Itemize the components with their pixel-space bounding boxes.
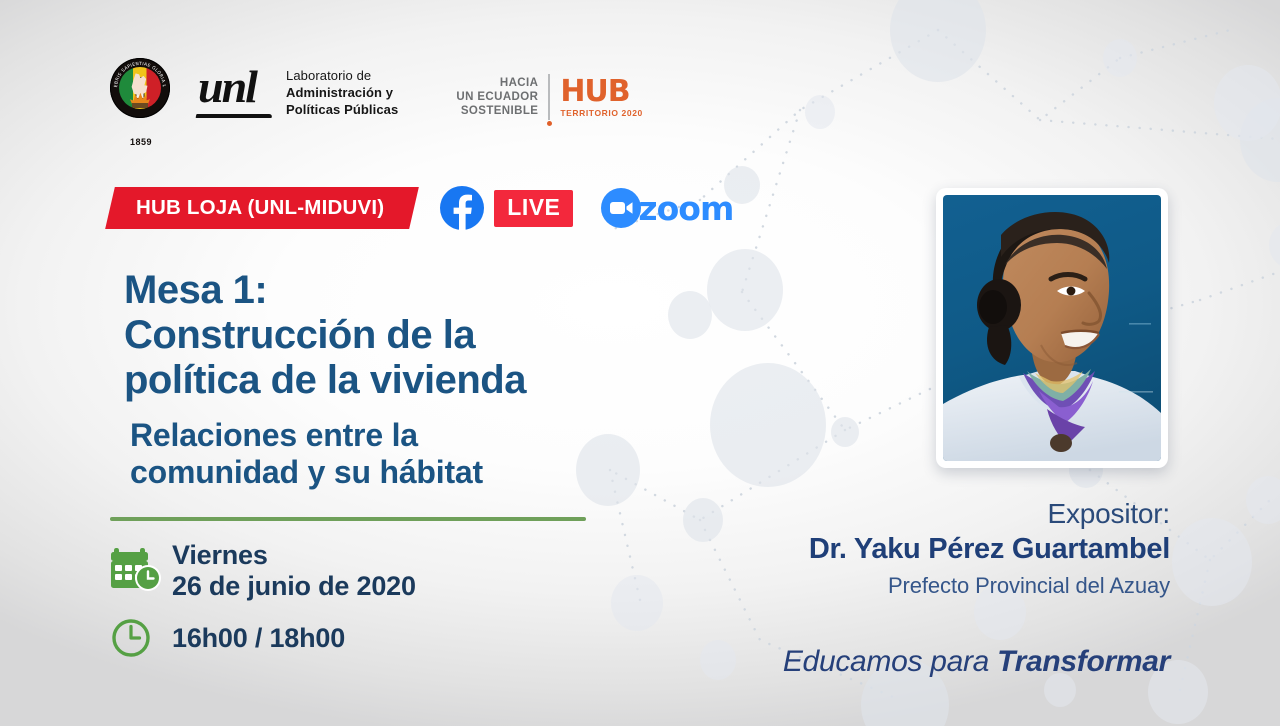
hub-divider: [548, 74, 550, 120]
unl-lab-logo: unl Laboratorio de Administración y Polí…: [198, 58, 398, 120]
unl-underline: [196, 114, 273, 118]
hub-loja-badge-label: HUB LOJA (UNL-MIDUVI): [136, 196, 384, 220]
date-text: Viernes 26 de junio de 2020: [172, 540, 416, 601]
unl-wordmark: unl: [198, 64, 272, 120]
speaker-portrait: [943, 195, 1161, 461]
green-divider: [110, 517, 586, 521]
facebook-icon[interactable]: [440, 186, 484, 230]
subtitle-line-1: Relaciones entre la: [130, 417, 483, 454]
title-line-2: Construcción de la: [124, 313, 526, 358]
tagline: Educamos para Transformar: [783, 645, 1170, 679]
time-text: 16h00 / 18h00: [172, 623, 345, 654]
page-subtitle: Relaciones entre la comunidad y su hábit…: [130, 417, 483, 492]
broadcast-bar: HUB LOJA (UNL-MIDUVI) LIVE zoom: [110, 186, 733, 230]
hub-wordmark: HUB: [560, 77, 643, 107]
title-line-1: Mesa 1:: [124, 268, 526, 313]
tagline-normal: Educamos para: [783, 645, 997, 678]
date-line-2: 26 de junio de 2020: [172, 571, 416, 602]
zoom-logo[interactable]: zoom: [601, 188, 733, 228]
calendar-clock-icon: [110, 545, 172, 597]
speaker-block: Expositor: Dr. Yaku Pérez Guartambel Pre…: [809, 498, 1170, 600]
unl-wordmark-text: unl: [198, 64, 272, 110]
date-line-1: Viernes: [172, 540, 416, 571]
clock-icon: [110, 615, 172, 661]
hub-tagline-line-3: SOSTENIBLE: [456, 104, 538, 118]
speaker-role: Prefecto Provincial del Azuay: [809, 572, 1170, 601]
date-row: Viernes 26 de junio de 2020: [110, 540, 416, 601]
avatar: [936, 188, 1168, 468]
hub-dot-icon: [547, 121, 552, 126]
title-line-3: política de la vivienda: [124, 358, 526, 403]
schedule-block: Viernes 26 de junio de 2020 16h00 / 18h0…: [110, 540, 416, 675]
hub-tagline: HACIA UN ECUADOR SOSTENIBLE: [456, 76, 538, 118]
zoom-wordmark: zoom: [638, 192, 733, 225]
pedestal-icon: [132, 103, 148, 108]
hub-subtitle: TERRITORIO 2020: [560, 109, 643, 118]
speaker-name: Dr. Yaku Pérez Guartambel: [809, 532, 1170, 567]
lab-line-3: Políticas Públicas: [286, 101, 398, 118]
time-row: 16h00 / 18h00: [110, 615, 416, 661]
seal-year: 1859: [110, 137, 172, 147]
lab-line-2: Administración y: [286, 84, 398, 101]
lab-name: Laboratorio de Administración y Política…: [286, 67, 398, 118]
hub-tagline-line-1: HACIA: [456, 76, 538, 90]
live-badge: LIVE: [494, 190, 573, 227]
webinar-poster: .bub{fill:#dfe4ea;opacity:.62} .bub2{fil…: [0, 0, 1280, 726]
subtitle-line-2: comunidad y su hábitat: [130, 454, 483, 491]
lab-line-1: Laboratorio de: [286, 67, 398, 84]
hub-territorio-logo: HACIA UN ECUADOR SOSTENIBLE HUB TERRITOR…: [456, 74, 643, 120]
seal-circle: IN TENEBRIS SAPIENTIAE GLORIA LUX VIA: [110, 58, 170, 118]
hub-tagline-line-2: UN ECUADOR: [456, 90, 538, 104]
tagline-bold: Transformar: [997, 645, 1170, 678]
seal-inner-emblem: [119, 67, 161, 109]
hub-mark: HUB TERRITORIO 2020: [560, 77, 643, 118]
zoom-camera-icon: [601, 188, 641, 228]
logo-bar: IN TENEBRIS SAPIENTIAE GLORIA LUX VIA 18…: [110, 58, 643, 147]
page-title: Mesa 1: Construcción de la política de l…: [124, 268, 526, 402]
hub-loja-badge: HUB LOJA (UNL-MIDUVI): [105, 187, 419, 229]
speaker-prefix: Expositor:: [809, 498, 1170, 530]
unl-seal-logo: IN TENEBRIS SAPIENTIAE GLORIA LUX VIA 18…: [110, 58, 172, 147]
